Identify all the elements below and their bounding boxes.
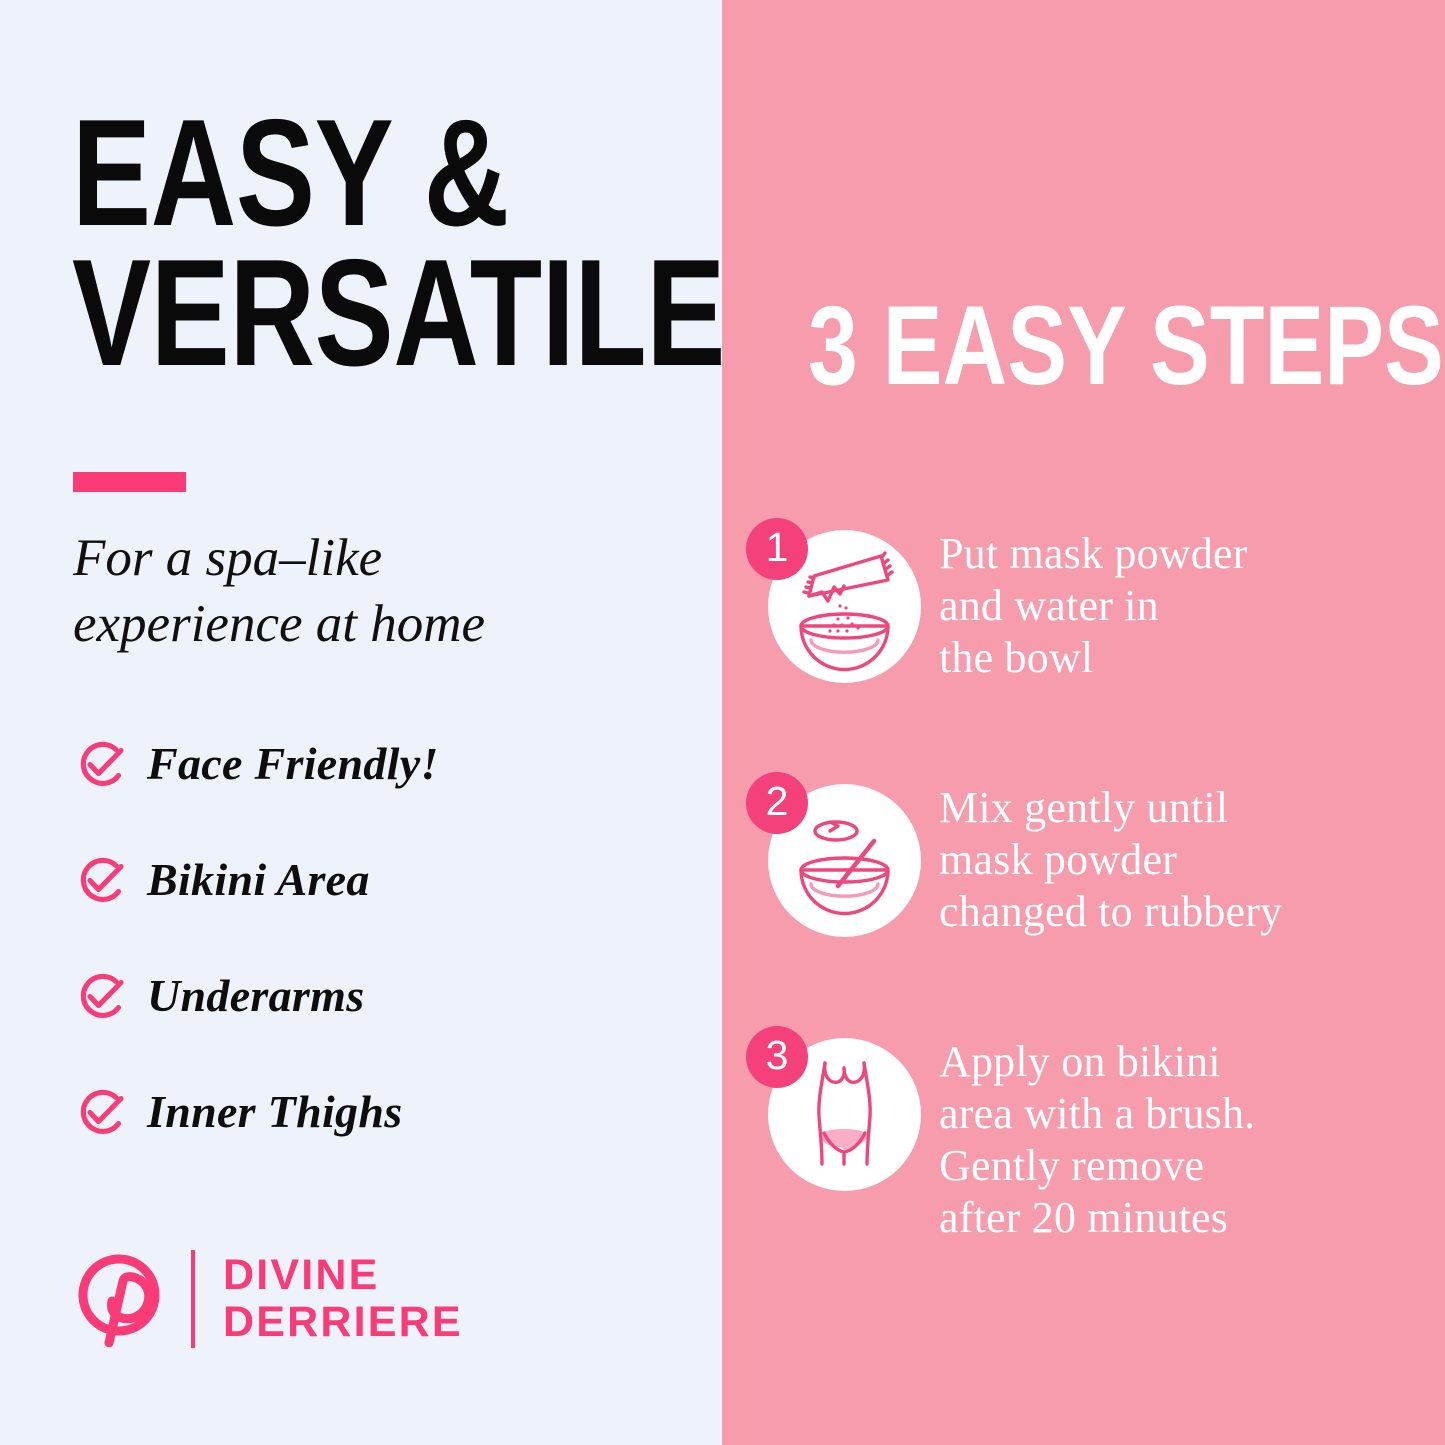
step-number-badge: 3 [746, 1026, 808, 1088]
list-item-label: Underarms [147, 973, 364, 1019]
step-description: Apply on bikini area with a brush. Gentl… [939, 1036, 1445, 1244]
list-item-label: Bikini Area [147, 857, 370, 903]
benefits-checklist: Face Friendly! Bikini Area [73, 706, 673, 1170]
check-circle-icon [73, 737, 127, 791]
check-circle-icon [73, 853, 127, 907]
right-panel: 3 EASY STEPS: [722, 0, 1445, 1445]
subtitle: For a spa–like experience at home [73, 525, 633, 658]
steps-list: 1 Put mask powder and water in the bowl [746, 518, 1445, 1244]
step-number-badge: 2 [746, 772, 808, 834]
step-description: Mix gently until mask powder changed to … [939, 782, 1445, 938]
list-item: Inner Thighs [73, 1054, 673, 1170]
list-item-label: Face Friendly! [147, 741, 439, 787]
list-item: 2 Mix gently until mask powder changed t… [746, 772, 1445, 987]
list-item: Bikini Area [73, 822, 673, 938]
step-number-badge: 1 [746, 518, 808, 580]
brand-name: DIVINE DERRIERE [223, 1252, 463, 1347]
steps-heading: 3 EASY STEPS: [808, 290, 1445, 402]
brand-logo: DIVINE DERRIERE [75, 1243, 463, 1355]
logo-divider [191, 1250, 195, 1348]
accent-rule-divider [73, 472, 186, 492]
check-circle-icon [73, 1085, 127, 1139]
step-figure: 2 [746, 772, 921, 947]
list-item: Face Friendly! [73, 706, 673, 822]
list-item: Underarms [73, 938, 673, 1054]
divine-derriere-monogram-icon [75, 1251, 167, 1347]
poster: EASY & VERSATILE For a spa–like experien… [0, 0, 1445, 1445]
step-description: Put mask powder and water in the bowl [939, 528, 1445, 684]
list-item: 3 Apply on bikini area with a brush. Gen… [746, 1026, 1445, 1244]
left-panel: EASY & VERSATILE For a spa–like experien… [0, 0, 722, 1445]
step-figure: 3 [746, 1026, 921, 1201]
check-circle-icon [73, 969, 127, 1023]
list-item: 1 Put mask powder and water in the bowl [746, 518, 1445, 733]
list-item-label: Inner Thighs [147, 1089, 402, 1135]
page-title: EASY & VERSATILE [72, 104, 556, 384]
step-figure: 1 [746, 518, 921, 693]
